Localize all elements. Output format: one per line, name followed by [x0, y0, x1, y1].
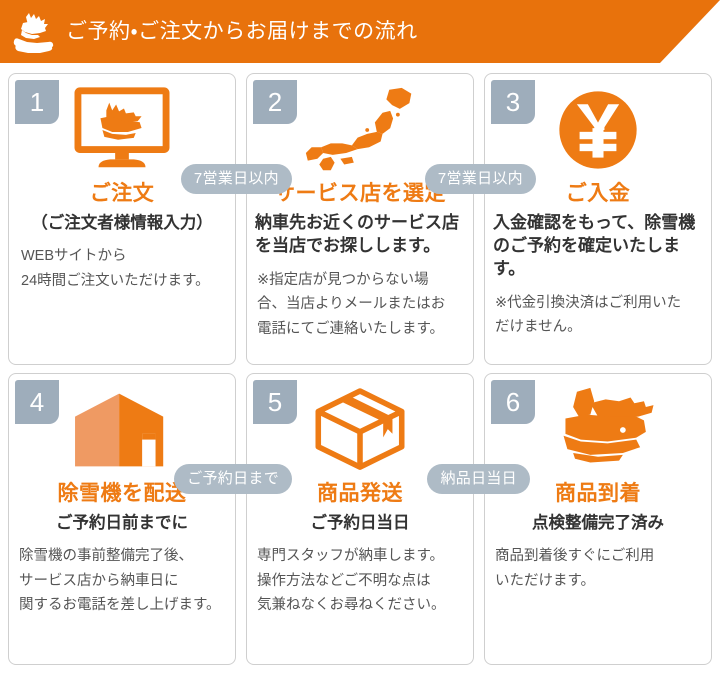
step-card-5: 5 納品日当日 商品発送 ご予約日当日 専門スタッフが納車します。 操作方法など…	[246, 373, 474, 665]
step-pill-1: 7営業日以内	[181, 164, 292, 194]
note-line: ※代金引換決済はご利用いた	[495, 291, 701, 315]
note-line: ※指定店が見つからない場	[257, 268, 463, 292]
step-card-3: 3 ご入金 入金確認をもって、除雪機のご予約を確定いたします。 ※代金引換決済は…	[484, 73, 712, 365]
step-number-badge-6: 6	[491, 380, 535, 424]
step-pill-4: ご予約日まで	[174, 464, 292, 494]
hand-holding-snowblower-icon	[12, 11, 58, 55]
step-subtitle-2: 納車先お近くのサービス店を当店でお探しします。	[247, 212, 473, 258]
note-line: いただけます。	[495, 569, 701, 593]
step-subtitle-3: 入金確認をもって、除雪機のご予約を確定いたします。	[485, 212, 711, 281]
step-number-badge-3: 3	[491, 80, 535, 124]
note-line: WEBサイトから	[21, 244, 223, 268]
note-line: 24時間ご注文いただけます。	[21, 269, 223, 293]
step-number-badge-2: 2	[253, 80, 297, 124]
step-number-badge-1: 1	[15, 80, 59, 124]
note-line: 操作方法などご不明な点は	[257, 569, 463, 593]
page-header: ご予約・ご注文からお届けまでの流れ	[0, 0, 720, 63]
step-subtitle-1: （ご注文者様情報入力）	[9, 212, 235, 234]
step-note-4: 除雪機の事前整備完了後、 サービス店から納車日に 関するお電話を差し上げます。	[9, 544, 235, 617]
step-subtitle-6: 点検整備完了済み	[485, 512, 711, 534]
note-line: 電話にてご連絡いたします。	[257, 317, 463, 341]
step-card-2: 2	[246, 73, 474, 365]
step-card-4: 4 ご予約日まで 除雪機を配送 ご予約日前までに 除雪機の事前整備完了後、 サー…	[8, 373, 236, 665]
step-subtitle-5: ご予約日当日	[247, 512, 473, 534]
step-note-1: WEBサイトから 24時間ご注文いただけます。	[9, 244, 235, 293]
step-note-6: 商品到着後すぐにご利用 いただけます。	[485, 544, 711, 593]
note-line: 気兼ねなくお尋ねください。	[257, 593, 463, 617]
step-note-2: ※指定店が見つからない場 合、当店よりメールまたはお 電話にてご連絡いたします。	[247, 268, 473, 341]
note-line: 関するお電話を差し上げます。	[19, 593, 225, 617]
step-number-badge-4: 4	[15, 380, 59, 424]
step-number-badge-5: 5	[253, 380, 297, 424]
step-note-5: 専門スタッフが納車します。 操作方法などご不明な点は 気兼ねなくお尋ねください。	[247, 544, 473, 617]
note-line: サービス店から納車日に	[19, 569, 225, 593]
step-pill-5: 納品日当日	[427, 464, 530, 494]
note-line: 専門スタッフが納車します。	[257, 544, 463, 568]
step-pill-2: 7営業日以内	[425, 164, 536, 194]
steps-grid: 1 7営業日以内 ご注文 （ご注文者様情報入力） WEBサイトから	[0, 63, 720, 665]
note-line: 合、当店よりメールまたはお	[257, 292, 463, 316]
step-subtitle-4: ご予約日前までに	[9, 512, 235, 534]
page-title: ご予約・ご注文からお届けまでの流れ	[66, 21, 418, 42]
step-note-3: ※代金引換決済はご利用いた だけません。	[485, 291, 711, 340]
step-card-6: 6 商品到着 点検整備完了済み 商品到着後すぐにご利用 いただけます	[484, 373, 712, 665]
note-line: 除雪機の事前整備完了後、	[19, 544, 225, 568]
note-line: 商品到着後すぐにご利用	[495, 544, 701, 568]
step-card-1: 1 7営業日以内 ご注文 （ご注文者様情報入力） WEBサイトから	[8, 73, 236, 365]
note-line: だけません。	[495, 315, 701, 339]
